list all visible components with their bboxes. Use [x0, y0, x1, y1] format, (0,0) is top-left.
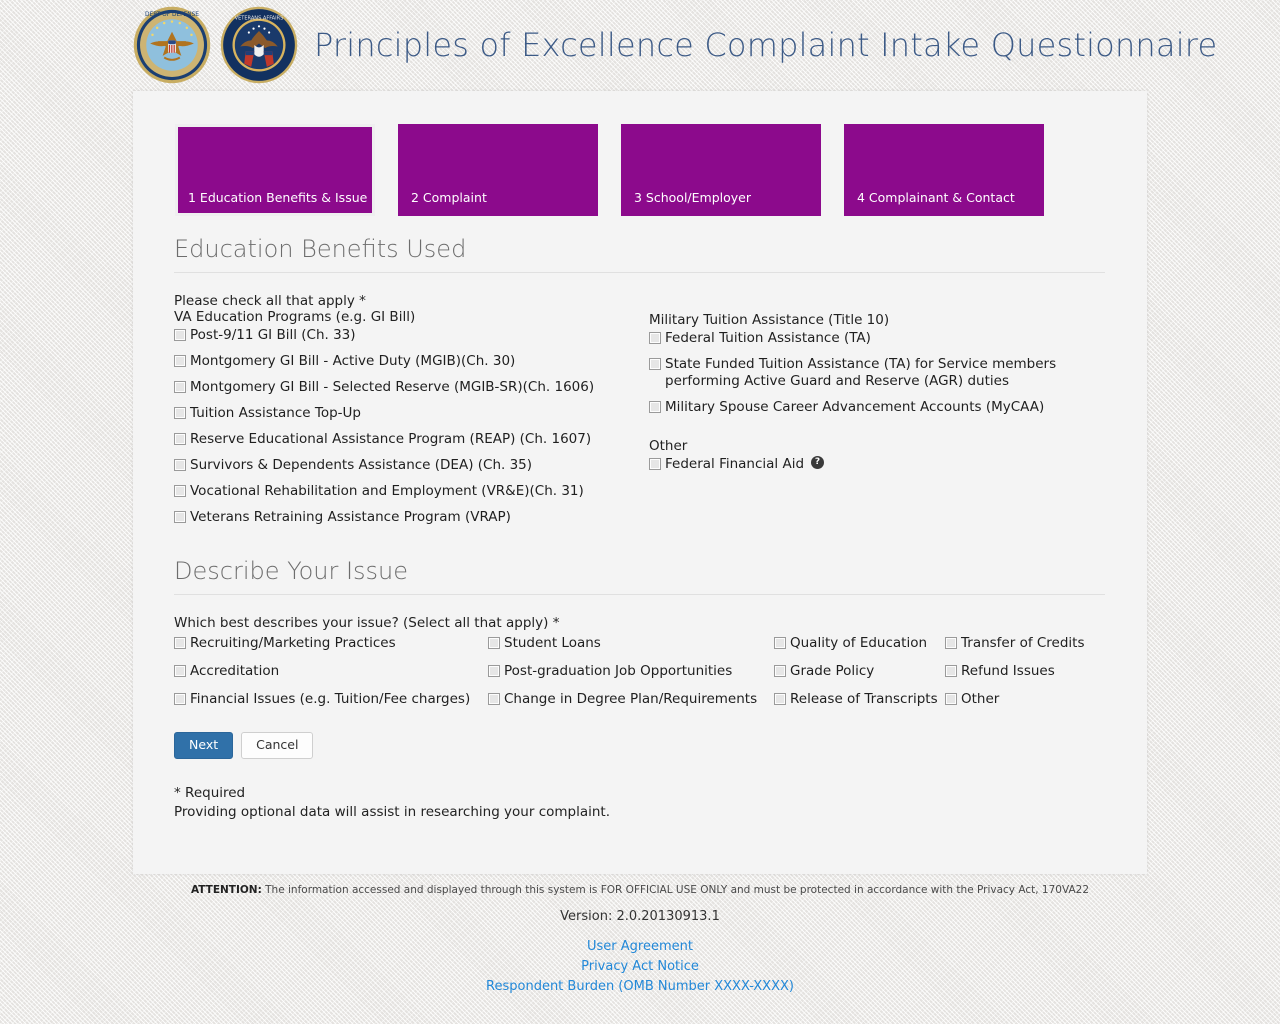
checkbox-release-of-transcripts[interactable]: [774, 693, 786, 705]
step-tabs: 1 Education Benefits & Issue 2 Complaint…: [175, 124, 1044, 216]
checkbox-label: Reserve Educational Assistance Program (…: [190, 431, 591, 448]
checkbox-row[interactable]: Federal Tuition Assistance (TA): [649, 330, 1109, 347]
checkbox-label: State Funded Tuition Assistance (TA) for…: [665, 356, 1109, 390]
tab-label: 3 School/Employer: [634, 190, 751, 205]
checkbox-row[interactable]: Change in Degree Plan/Requirements: [488, 691, 774, 708]
checkbox-row[interactable]: Post-graduation Job Opportunities: [488, 663, 774, 680]
checkbox-label: Student Loans: [504, 635, 601, 652]
checkbox-mgib-active-duty[interactable]: [174, 355, 186, 367]
checkbox-other-issue[interactable]: [945, 693, 957, 705]
link-privacy-act-notice[interactable]: Privacy Act Notice: [0, 957, 1280, 977]
checkbox-mgib-selected-reserve[interactable]: [174, 381, 186, 393]
checkbox-row[interactable]: Financial Issues (e.g. Tuition/Fee charg…: [174, 691, 488, 708]
checkbox-label: Recruiting/Marketing Practices: [190, 635, 396, 652]
checkbox-label: Other: [961, 691, 999, 708]
checkbox-label: Vocational Rehabilitation and Employment…: [190, 483, 584, 500]
checkbox-row[interactable]: Quality of Education: [774, 635, 945, 652]
checkbox-label: Post-graduation Job Opportunities: [504, 663, 732, 680]
checkbox-label: Grade Policy: [790, 663, 874, 680]
footer-links: User Agreement Privacy Act Notice Respon…: [0, 937, 1280, 997]
checkbox-label: Change in Degree Plan/Requirements: [504, 691, 757, 708]
checkbox-student-loans[interactable]: [488, 637, 500, 649]
checkbox-row[interactable]: Military Spouse Career Advancement Accou…: [649, 399, 1109, 416]
checkbox-reap[interactable]: [174, 433, 186, 445]
department-of-veterans-affairs-seal: VETERANS AFFAIRS: [220, 6, 298, 84]
link-user-agreement[interactable]: User Agreement: [0, 937, 1280, 957]
checkbox-row[interactable]: Release of Transcripts: [774, 691, 945, 708]
checkbox-label: Refund Issues: [961, 663, 1055, 680]
checkbox-federal-financial-aid[interactable]: [649, 458, 661, 470]
checkbox-label: Veterans Retraining Assistance Program (…: [190, 509, 511, 526]
checkbox-label: Survivors & Dependents Assistance (DEA) …: [190, 457, 532, 474]
other-group-label: Other: [649, 438, 1109, 454]
military-ta-group-label: Military Tuition Assistance (Title 10): [649, 312, 1109, 328]
checkbox-grade-policy[interactable]: [774, 665, 786, 677]
section-heading-education-benefits: Education Benefits Used: [174, 235, 1105, 273]
checkbox-row[interactable]: Montgomery GI Bill - Selected Reserve (M…: [174, 379, 644, 396]
checkbox-row[interactable]: Vocational Rehabilitation and Employment…: [174, 483, 644, 500]
page-title: Principles of Excellence Complaint Intak…: [314, 26, 1217, 64]
checkbox-label: Quality of Education: [790, 635, 927, 652]
checkbox-state-funded-tuition-assistance[interactable]: [649, 358, 661, 370]
checkbox-vre[interactable]: [174, 485, 186, 497]
checkbox-row[interactable]: Tuition Assistance Top-Up: [174, 405, 644, 422]
checkbox-label: Post-9/11 GI Bill (Ch. 33): [190, 327, 356, 344]
checkbox-row[interactable]: Reserve Educational Assistance Program (…: [174, 431, 644, 448]
checkbox-post-911-gi-bill[interactable]: [174, 329, 186, 341]
checkbox-vrap[interactable]: [174, 511, 186, 523]
checkbox-row[interactable]: Recruiting/Marketing Practices: [174, 635, 488, 652]
checkbox-label: Montgomery GI Bill - Selected Reserve (M…: [190, 379, 594, 396]
main-panel: 1 Education Benefits & Issue 2 Complaint…: [133, 91, 1147, 874]
tab-complainant-contact[interactable]: 4 Complainant & Contact: [844, 124, 1044, 216]
checkbox-label: Federal Tuition Assistance (TA): [665, 330, 871, 347]
checkbox-federal-tuition-assistance[interactable]: [649, 332, 661, 344]
cancel-button[interactable]: Cancel: [241, 732, 313, 759]
checkbox-mycaa[interactable]: [649, 401, 661, 413]
form-notes: * Required Providing optional data will …: [174, 784, 610, 822]
svg-text:DEPT OF DEFENSE: DEPT OF DEFENSE: [145, 12, 199, 18]
link-respondent-burden[interactable]: Respondent Burden (OMB Number XXXX-XXXX): [0, 977, 1280, 997]
checkbox-label: Accreditation: [190, 663, 279, 680]
form-actions: Next Cancel: [174, 732, 313, 759]
issue-prompt: Which best describes your issue? (Select…: [174, 615, 559, 631]
required-note: * Required: [174, 784, 610, 803]
issue-checkbox-grid: Recruiting/Marketing Practices Student L…: [174, 635, 1105, 708]
checkbox-change-in-degree-plan[interactable]: [488, 693, 500, 705]
checkbox-post-graduation-job-opportunities[interactable]: [488, 665, 500, 677]
checkbox-accreditation[interactable]: [174, 665, 186, 677]
checkbox-label: Military Spouse Career Advancement Accou…: [665, 399, 1044, 416]
tab-school-employer[interactable]: 3 School/Employer: [621, 124, 821, 216]
attention-label: ATTENTION:: [191, 884, 262, 896]
svg-text:VETERANS AFFAIRS: VETERANS AFFAIRS: [235, 15, 284, 21]
checkbox-quality-of-education[interactable]: [774, 637, 786, 649]
attention-notice: ATTENTION: The information accessed and …: [0, 884, 1280, 896]
checkbox-row[interactable]: Federal Financial Aid ?: [649, 456, 1109, 473]
checkbox-row[interactable]: Other: [945, 691, 1105, 708]
version-text: Version: 2.0.20130913.1: [0, 909, 1280, 924]
tab-label: 2 Complaint: [411, 190, 487, 205]
checkbox-recruiting-marketing-practices[interactable]: [174, 637, 186, 649]
checkbox-row[interactable]: Accreditation: [174, 663, 488, 680]
checkbox-row[interactable]: Refund Issues: [945, 663, 1105, 680]
benefits-prompt: Please check all that apply *: [174, 293, 644, 309]
checkbox-label: Release of Transcripts: [790, 691, 938, 708]
checkbox-label: Montgomery GI Bill - Active Duty (MGIB)(…: [190, 353, 515, 370]
optional-note: Providing optional data will assist in r…: [174, 803, 610, 822]
checkbox-label: Tuition Assistance Top-Up: [190, 405, 361, 422]
checkbox-row[interactable]: Transfer of Credits: [945, 635, 1105, 652]
checkbox-label: Financial Issues (e.g. Tuition/Fee charg…: [190, 691, 470, 708]
checkbox-transfer-of-credits[interactable]: [945, 637, 957, 649]
tab-education-benefits-issue[interactable]: 1 Education Benefits & Issue: [175, 124, 375, 216]
education-benefits-left-column: Please check all that apply * VA Educati…: [174, 293, 644, 526]
tab-complaint[interactable]: 2 Complaint: [398, 124, 598, 216]
checkbox-label: Federal Financial Aid: [665, 456, 804, 473]
tab-label: 4 Complainant & Contact: [857, 190, 1015, 205]
checkbox-financial-issues[interactable]: [174, 693, 186, 705]
checkbox-row[interactable]: Veterans Retraining Assistance Program (…: [174, 509, 644, 526]
checkbox-tuition-assistance-top-up[interactable]: [174, 407, 186, 419]
checkbox-dea[interactable]: [174, 459, 186, 471]
va-programs-group-label: VA Education Programs (e.g. GI Bill): [174, 309, 644, 325]
question-mark-icon[interactable]: ?: [811, 456, 824, 469]
education-benefits-right-column: Military Tuition Assistance (Title 10) F…: [649, 312, 1109, 473]
checkbox-row[interactable]: Grade Policy: [774, 663, 945, 680]
attention-text: The information accessed and displayed t…: [265, 884, 1089, 896]
checkbox-row[interactable]: Post-9/11 GI Bill (Ch. 33): [174, 327, 644, 344]
department-of-defense-seal: DEPT OF DEFENSE: [133, 6, 211, 84]
section-heading-describe-your-issue: Describe Your Issue: [174, 557, 1105, 595]
tab-label: 1 Education Benefits & Issue: [188, 190, 367, 205]
checkbox-row[interactable]: Student Loans: [488, 635, 774, 652]
checkbox-row[interactable]: Montgomery GI Bill - Active Duty (MGIB)(…: [174, 353, 644, 370]
checkbox-label: Transfer of Credits: [961, 635, 1085, 652]
checkbox-row[interactable]: Survivors & Dependents Assistance (DEA) …: [174, 457, 644, 474]
checkbox-row[interactable]: State Funded Tuition Assistance (TA) for…: [649, 356, 1109, 390]
checkbox-refund-issues[interactable]: [945, 665, 957, 677]
page-header: DEPT OF DEFENSE VETERANS AFFAIRS Princip…: [0, 0, 1280, 90]
next-button[interactable]: Next: [174, 732, 233, 759]
